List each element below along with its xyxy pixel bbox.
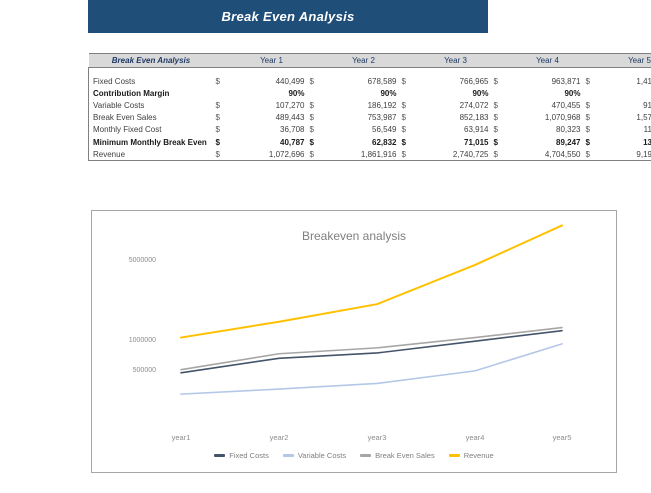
table-cell-value: 107,270 xyxy=(236,99,308,111)
table-cell-value: 117,790 xyxy=(604,124,651,136)
table-row: Fixed Costs$440,499$678,589$766,965$963,… xyxy=(89,75,651,87)
table-cell-currency-symbol: $ xyxy=(400,75,420,87)
legend-item[interactable]: Variable Costs xyxy=(283,451,346,460)
table-cell-currency-symbol: $ xyxy=(584,136,604,148)
x-axis-tick-label: year4 xyxy=(466,433,485,442)
legend-label: Break Even Sales xyxy=(375,451,435,460)
chart-line-revenue xyxy=(181,225,562,337)
table-cell-value: 90% xyxy=(604,87,651,99)
table-corner-header: Break Even Analysis xyxy=(89,54,214,68)
table-cell-currency-symbol: $ xyxy=(214,112,236,124)
table-cell-currency-symbol: $ xyxy=(584,75,604,87)
table-row-label: Revenue xyxy=(89,148,214,161)
table-header-row: Break Even Analysis Year 1 Year 2 Year 3… xyxy=(89,54,651,68)
table-cell-value: 489,443 xyxy=(236,112,308,124)
table-cell-value: 90% xyxy=(420,87,492,99)
table-head: Break Even Analysis Year 1 Year 2 Year 3… xyxy=(89,54,651,68)
table-cell-currency-symbol: $ xyxy=(214,136,236,148)
legend-item[interactable]: Revenue xyxy=(449,451,494,460)
x-axis-tick-label: year3 xyxy=(368,433,387,442)
table-row: Variable Costs$107,270$186,192$274,072$4… xyxy=(89,99,651,111)
chart-series-lines xyxy=(181,225,562,394)
table-cell-currency-symbol: $ xyxy=(308,148,328,161)
table-cell-value: 1,861,916 xyxy=(328,148,400,161)
break-even-table-container: Break Even Analysis Year 1 Year 2 Year 3… xyxy=(88,53,648,161)
table-cell-currency-symbol: $ xyxy=(214,124,236,136)
table-header-year-1: Year 1 xyxy=(236,54,308,68)
table-cell-value: 852,183 xyxy=(420,112,492,124)
table-row-label: Minimum Monthly Break Even xyxy=(89,136,214,148)
header-spacer-1 xyxy=(214,54,236,68)
table-cell-value: 1,070,968 xyxy=(512,112,584,124)
legend-swatch-icon xyxy=(214,454,225,457)
legend-label: Revenue xyxy=(464,451,494,460)
table-cell-currency-symbol: $ xyxy=(308,136,328,148)
table-row: Revenue$1,072,696$1,861,916$2,740,725$4,… xyxy=(89,148,651,161)
table-cell-value: 63,914 xyxy=(420,124,492,136)
table-cell-value: 90% xyxy=(236,87,308,99)
table-cell-value: 274,072 xyxy=(420,99,492,111)
page-title: Break Even Analysis xyxy=(221,9,354,24)
table-cell-currency-symbol: $ xyxy=(492,136,512,148)
table-cell-value: 919,515 xyxy=(604,99,651,111)
table-cell-currency-symbol: $ xyxy=(400,99,420,111)
table-row: Monthly Fixed Cost$36,708$56,549$63,914$… xyxy=(89,124,651,136)
header-spacer-5 xyxy=(584,54,604,68)
table-cell-value: 963,871 xyxy=(512,75,584,87)
table-cell-value: 1,072,696 xyxy=(236,148,308,161)
table-cell-currency-symbol: $ xyxy=(400,112,420,124)
table-cell-currency-symbol xyxy=(308,87,328,99)
x-axis-tick-labels: year1year2year3year4year5 xyxy=(172,433,572,442)
table-row: Minimum Monthly Break Even$40,787$62,832… xyxy=(89,136,651,148)
table-cell-value: 1,570,540 xyxy=(604,112,651,124)
table-cell-currency-symbol: $ xyxy=(492,99,512,111)
table-cell-currency-symbol: $ xyxy=(584,124,604,136)
table-cell-value: 470,455 xyxy=(512,99,584,111)
table-cell-currency-symbol: $ xyxy=(400,136,420,148)
table-row-label: Variable Costs xyxy=(89,99,214,111)
chart-line-variable-costs xyxy=(181,344,562,394)
table-cell-value: 89,247 xyxy=(512,136,584,148)
table-cell-value: 2,740,725 xyxy=(420,148,492,161)
chart-plot-area: 50000001000000500000 year1year2year3year… xyxy=(92,211,616,472)
legend-swatch-icon xyxy=(449,454,460,457)
table-cell-currency-symbol: $ xyxy=(214,99,236,111)
table-header-year-3: Year 3 xyxy=(420,54,492,68)
chart-line-fixed-costs xyxy=(181,331,562,373)
legend-item[interactable]: Break Even Sales xyxy=(360,451,435,460)
header-spacer-3 xyxy=(400,54,420,68)
table-cell-currency-symbol xyxy=(214,87,236,99)
table-cell-value: 766,965 xyxy=(420,75,492,87)
table-cell-currency-symbol: $ xyxy=(308,112,328,124)
break-even-table: Break Even Analysis Year 1 Year 2 Year 3… xyxy=(88,53,651,161)
table-cell-currency-symbol: $ xyxy=(214,148,236,161)
table-cell-value: 36,708 xyxy=(236,124,308,136)
table-cell-value: 9,195,150 xyxy=(604,148,651,161)
table-row-label: Fixed Costs xyxy=(89,75,214,87)
table-cell-currency-symbol: $ xyxy=(308,99,328,111)
table-cell-currency-symbol: $ xyxy=(308,75,328,87)
table-cell-currency-symbol: $ xyxy=(214,75,236,87)
table-cell-value: 90% xyxy=(328,87,400,99)
chart-line-break-even-sales xyxy=(181,328,562,370)
table-cell-currency-symbol: $ xyxy=(492,75,512,87)
table-body: Fixed Costs$440,499$678,589$766,965$963,… xyxy=(89,68,651,161)
table-cell-currency-symbol xyxy=(492,87,512,99)
y-axis-tick-label: 1000000 xyxy=(129,337,156,344)
table-row-label: Break Even Sales xyxy=(89,112,214,124)
x-axis-tick-label: year1 xyxy=(172,433,191,442)
table-cell-value: 678,589 xyxy=(328,75,400,87)
table-cell-currency-symbol xyxy=(400,87,420,99)
y-axis-tick-label: 5000000 xyxy=(129,257,156,264)
legend-item[interactable]: Fixed Costs xyxy=(214,451,269,460)
table-cell-currency-symbol xyxy=(584,87,604,99)
table-cell-value: 440,499 xyxy=(236,75,308,87)
table-row: Break Even Sales$489,443$753,987$852,183… xyxy=(89,112,651,124)
table-header-year-4: Year 4 xyxy=(512,54,584,68)
legend-swatch-icon xyxy=(360,454,371,457)
table-cell-value: 186,192 xyxy=(328,99,400,111)
table-header-year-5: Year 5 xyxy=(604,54,651,68)
table-cell-currency-symbol: $ xyxy=(492,148,512,161)
y-axis-tick-label: 500000 xyxy=(133,367,156,374)
legend-swatch-icon xyxy=(283,454,294,457)
x-axis-tick-label: year5 xyxy=(553,433,572,442)
table-cell-value: 4,704,550 xyxy=(512,148,584,161)
table-top-spacer xyxy=(89,68,651,76)
table-cell-value: 62,832 xyxy=(328,136,400,148)
table-row: Contribution Margin90%90%90%90%90% xyxy=(89,87,651,99)
table-cell-value: 90% xyxy=(512,87,584,99)
legend-label: Variable Costs xyxy=(298,451,346,460)
table-row-label: Contribution Margin xyxy=(89,87,214,99)
table-cell-currency-symbol: $ xyxy=(492,112,512,124)
table-cell-value: 753,987 xyxy=(328,112,400,124)
table-cell-value: 56,549 xyxy=(328,124,400,136)
table-cell-currency-symbol: $ xyxy=(400,148,420,161)
table-cell-currency-symbol: $ xyxy=(308,124,328,136)
table-cell-currency-symbol: $ xyxy=(584,112,604,124)
table-cell-currency-symbol: $ xyxy=(492,124,512,136)
chart-legend: Fixed CostsVariable CostsBreak Even Sale… xyxy=(92,451,616,460)
header-spacer-2 xyxy=(308,54,328,68)
table-row-label: Monthly Fixed Cost xyxy=(89,124,214,136)
table-cell-value: 130,878 xyxy=(604,136,651,148)
table-header-year-2: Year 2 xyxy=(328,54,400,68)
table-cell-currency-symbol: $ xyxy=(584,99,604,111)
table-cell-value: 80,323 xyxy=(512,124,584,136)
x-axis-tick-label: year2 xyxy=(270,433,289,442)
table-cell-value: 71,015 xyxy=(420,136,492,148)
table-cell-currency-symbol: $ xyxy=(584,148,604,161)
legend-label: Fixed Costs xyxy=(229,451,269,460)
y-axis-tick-labels: 50000001000000500000 xyxy=(129,257,156,374)
table-cell-value: 1,413,486 xyxy=(604,75,651,87)
table-cell-value: 40,787 xyxy=(236,136,308,148)
table-cell-currency-symbol: $ xyxy=(400,124,420,136)
page-title-banner: Break Even Analysis xyxy=(88,0,488,33)
breakeven-chart-panel: Breakeven analysis 50000001000000500000 … xyxy=(91,210,617,473)
header-spacer-4 xyxy=(492,54,512,68)
